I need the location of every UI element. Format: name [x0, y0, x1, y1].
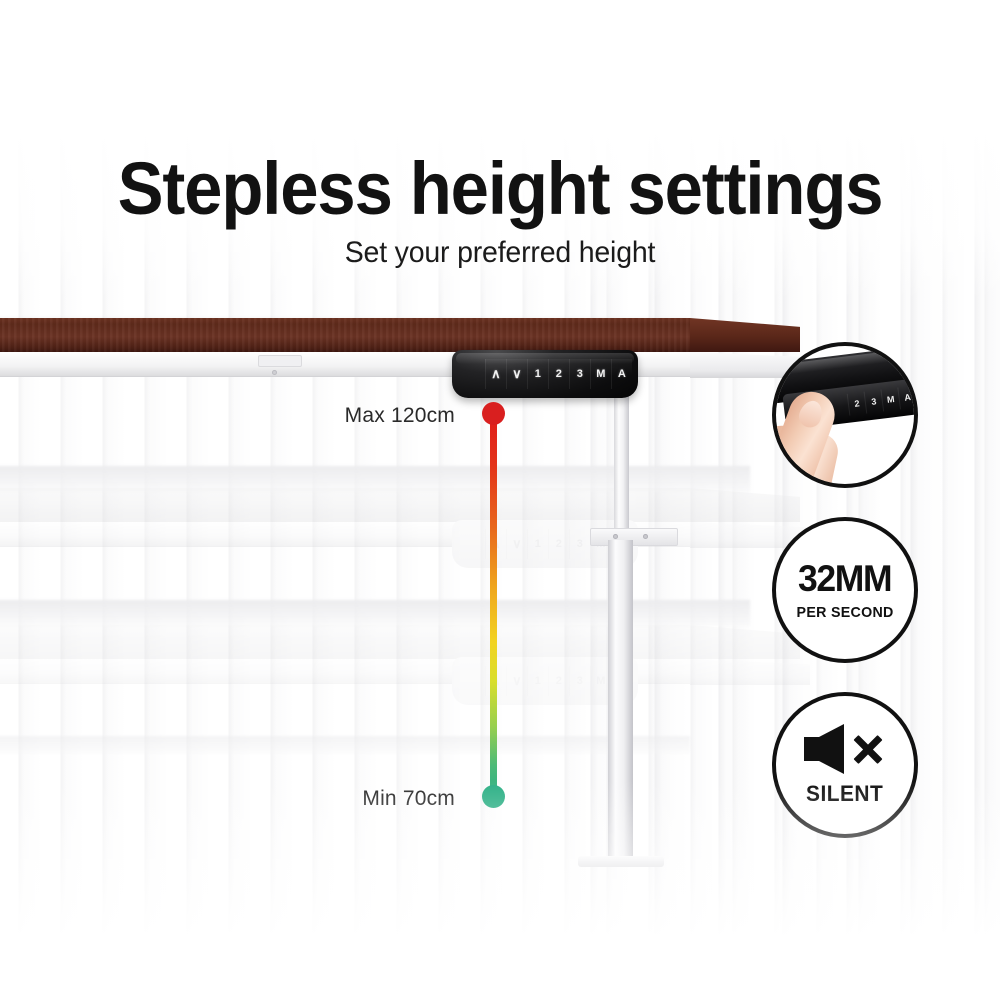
desk-leg-upper-segment	[614, 378, 629, 538]
key-up-icon[interactable]: ∧	[485, 359, 506, 389]
ghost-key-down: ∨	[506, 666, 527, 696]
badge-speed-value: 32MM	[798, 560, 891, 597]
key-preset-1[interactable]: 1	[527, 359, 548, 389]
background-shelf-line-3	[0, 736, 690, 754]
height-range-gradient-bar	[490, 412, 497, 796]
ghost-desktop	[0, 488, 690, 522]
key-preset-2[interactable]: 2	[548, 359, 569, 389]
height-control-keypad[interactable]: ∧ ∨ 1 2 3 M A	[452, 350, 638, 398]
ghost-desktop	[0, 625, 690, 659]
background-shelf-line-2	[0, 600, 750, 626]
bracket-screw-left	[613, 534, 618, 539]
badge-speed: 32MM PER SECOND	[772, 517, 918, 663]
key-down-icon[interactable]: ∨	[506, 359, 527, 389]
ghost-key-preset-1: 1	[527, 529, 548, 559]
speaker-cone-icon	[819, 724, 844, 774]
badge-key-auto: A	[897, 386, 917, 410]
page-subtitle: Set your preferred height	[25, 238, 975, 268]
badge-touch-control: 2 3 M A	[772, 342, 918, 488]
ghost-key-preset-3: 3	[569, 666, 590, 696]
page-title: Stepless height settings	[35, 152, 965, 226]
key-auto[interactable]: A	[611, 359, 632, 389]
ghost-key-down: ∨	[506, 529, 527, 559]
max-height-marker-dot	[482, 402, 505, 425]
background-fade-bottom	[0, 780, 1000, 1000]
mute-x-icon	[851, 732, 885, 766]
ghost-key-preset-3: 3	[569, 529, 590, 559]
max-height-label: Max 120cm	[345, 404, 455, 428]
apron-screw	[272, 370, 277, 375]
speaker-mute-icon	[802, 723, 888, 775]
key-memory[interactable]: M	[590, 359, 611, 389]
ghost-key-preset-2: 2	[548, 529, 569, 559]
apron-notch	[258, 355, 302, 367]
ghost-key-preset-1: 1	[527, 666, 548, 696]
desktop-surface	[0, 318, 690, 352]
badge-speed-unit: PER SECOND	[796, 604, 893, 621]
product-feature-image: Stepless height settings Set your prefer…	[0, 0, 1000, 1000]
ghost-key-preset-2: 2	[548, 666, 569, 696]
key-preset-3[interactable]: 3	[569, 359, 590, 389]
desk-leg-bracket	[590, 528, 678, 546]
speaker-body-icon	[804, 737, 821, 761]
bracket-screw-right	[643, 534, 648, 539]
